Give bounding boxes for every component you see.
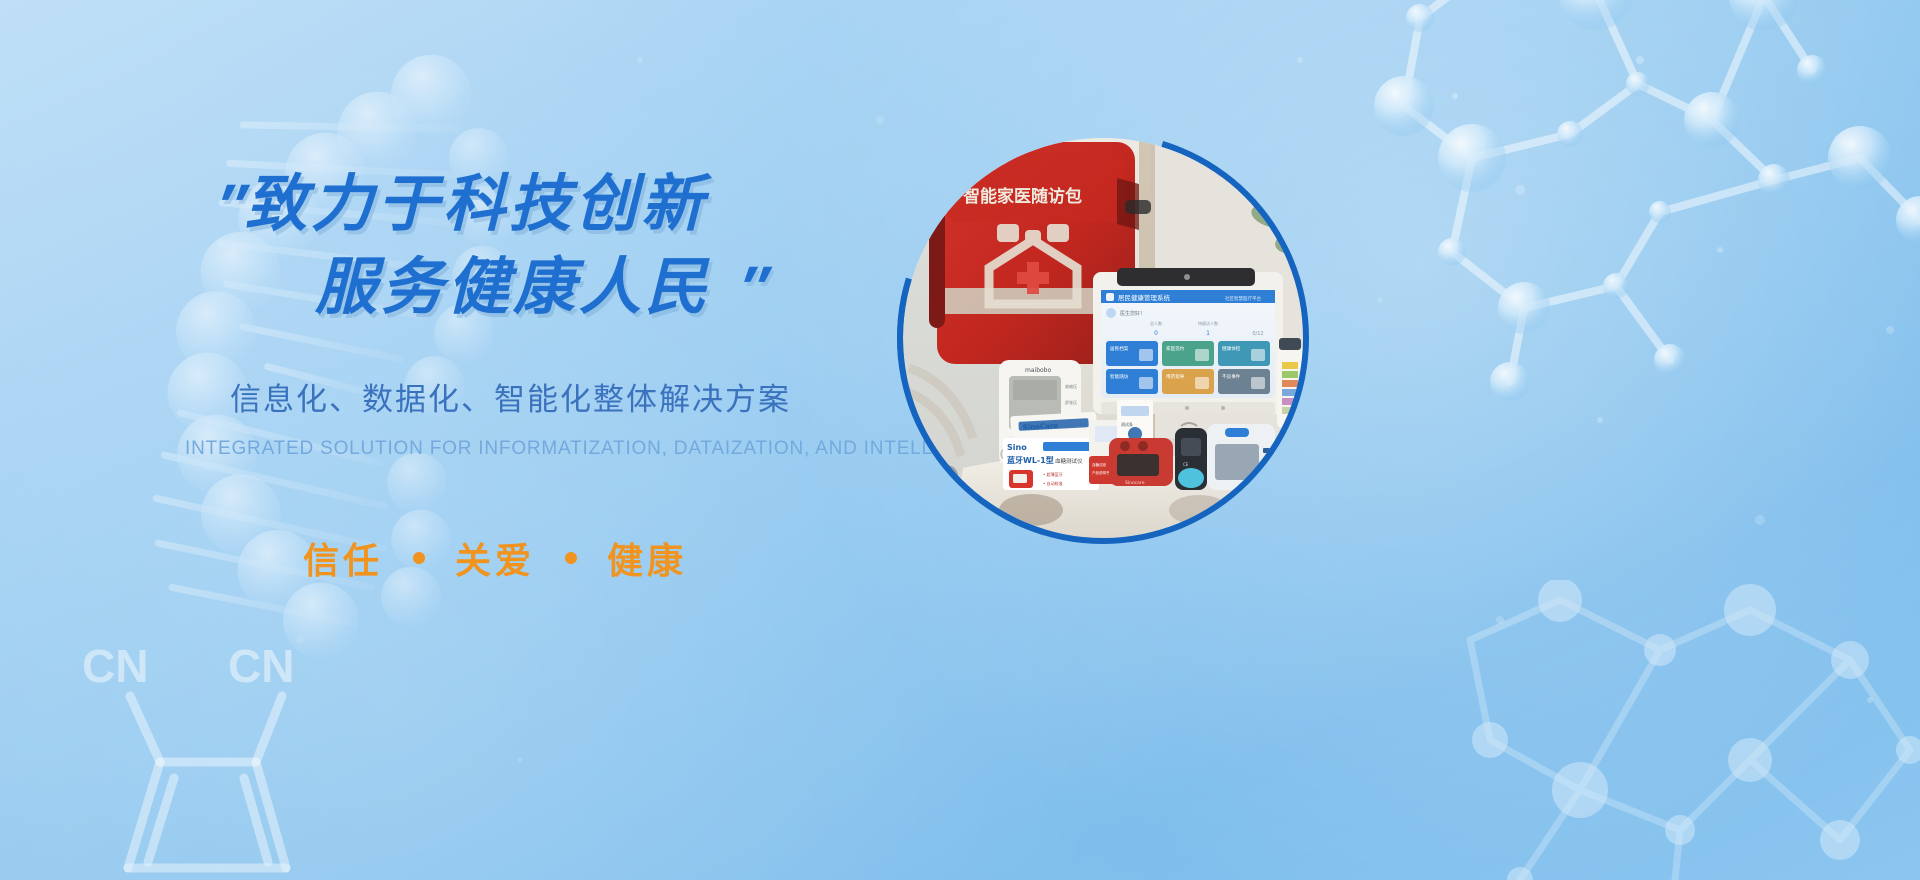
hero-photo: 智能家医随访包 xyxy=(903,138,1303,538)
hero-banner: CN CN ″ 致力于科技创新 服务健康人民 ″ 信息化、数据化、智能化整体解决… xyxy=(0,0,1920,880)
molecule-network-icon xyxy=(1360,0,1920,400)
value-keywords: 信任 关爱 健康 xyxy=(185,532,1045,584)
value-keyword-care: 关爱 xyxy=(455,532,535,584)
molecule-network-secondary-icon xyxy=(1430,580,1920,880)
chemical-structure-watermark-icon: CN CN xyxy=(60,610,420,880)
chem-label-cn-left: CN xyxy=(82,640,148,692)
value-separator-dot-1 xyxy=(413,552,425,564)
close-quote-mark: ″ xyxy=(729,250,772,327)
value-keyword-health: 健康 xyxy=(607,532,687,584)
headline-line-1-text: 致力于科技创新 xyxy=(245,165,707,244)
photo-ring-accent xyxy=(824,59,1381,616)
headline-line-2-text: 服务健康人民 xyxy=(315,248,711,327)
value-separator-dot-2 xyxy=(565,552,577,564)
value-keyword-trust: 信任 xyxy=(303,532,383,584)
chem-label-cn-right: CN xyxy=(228,640,294,692)
